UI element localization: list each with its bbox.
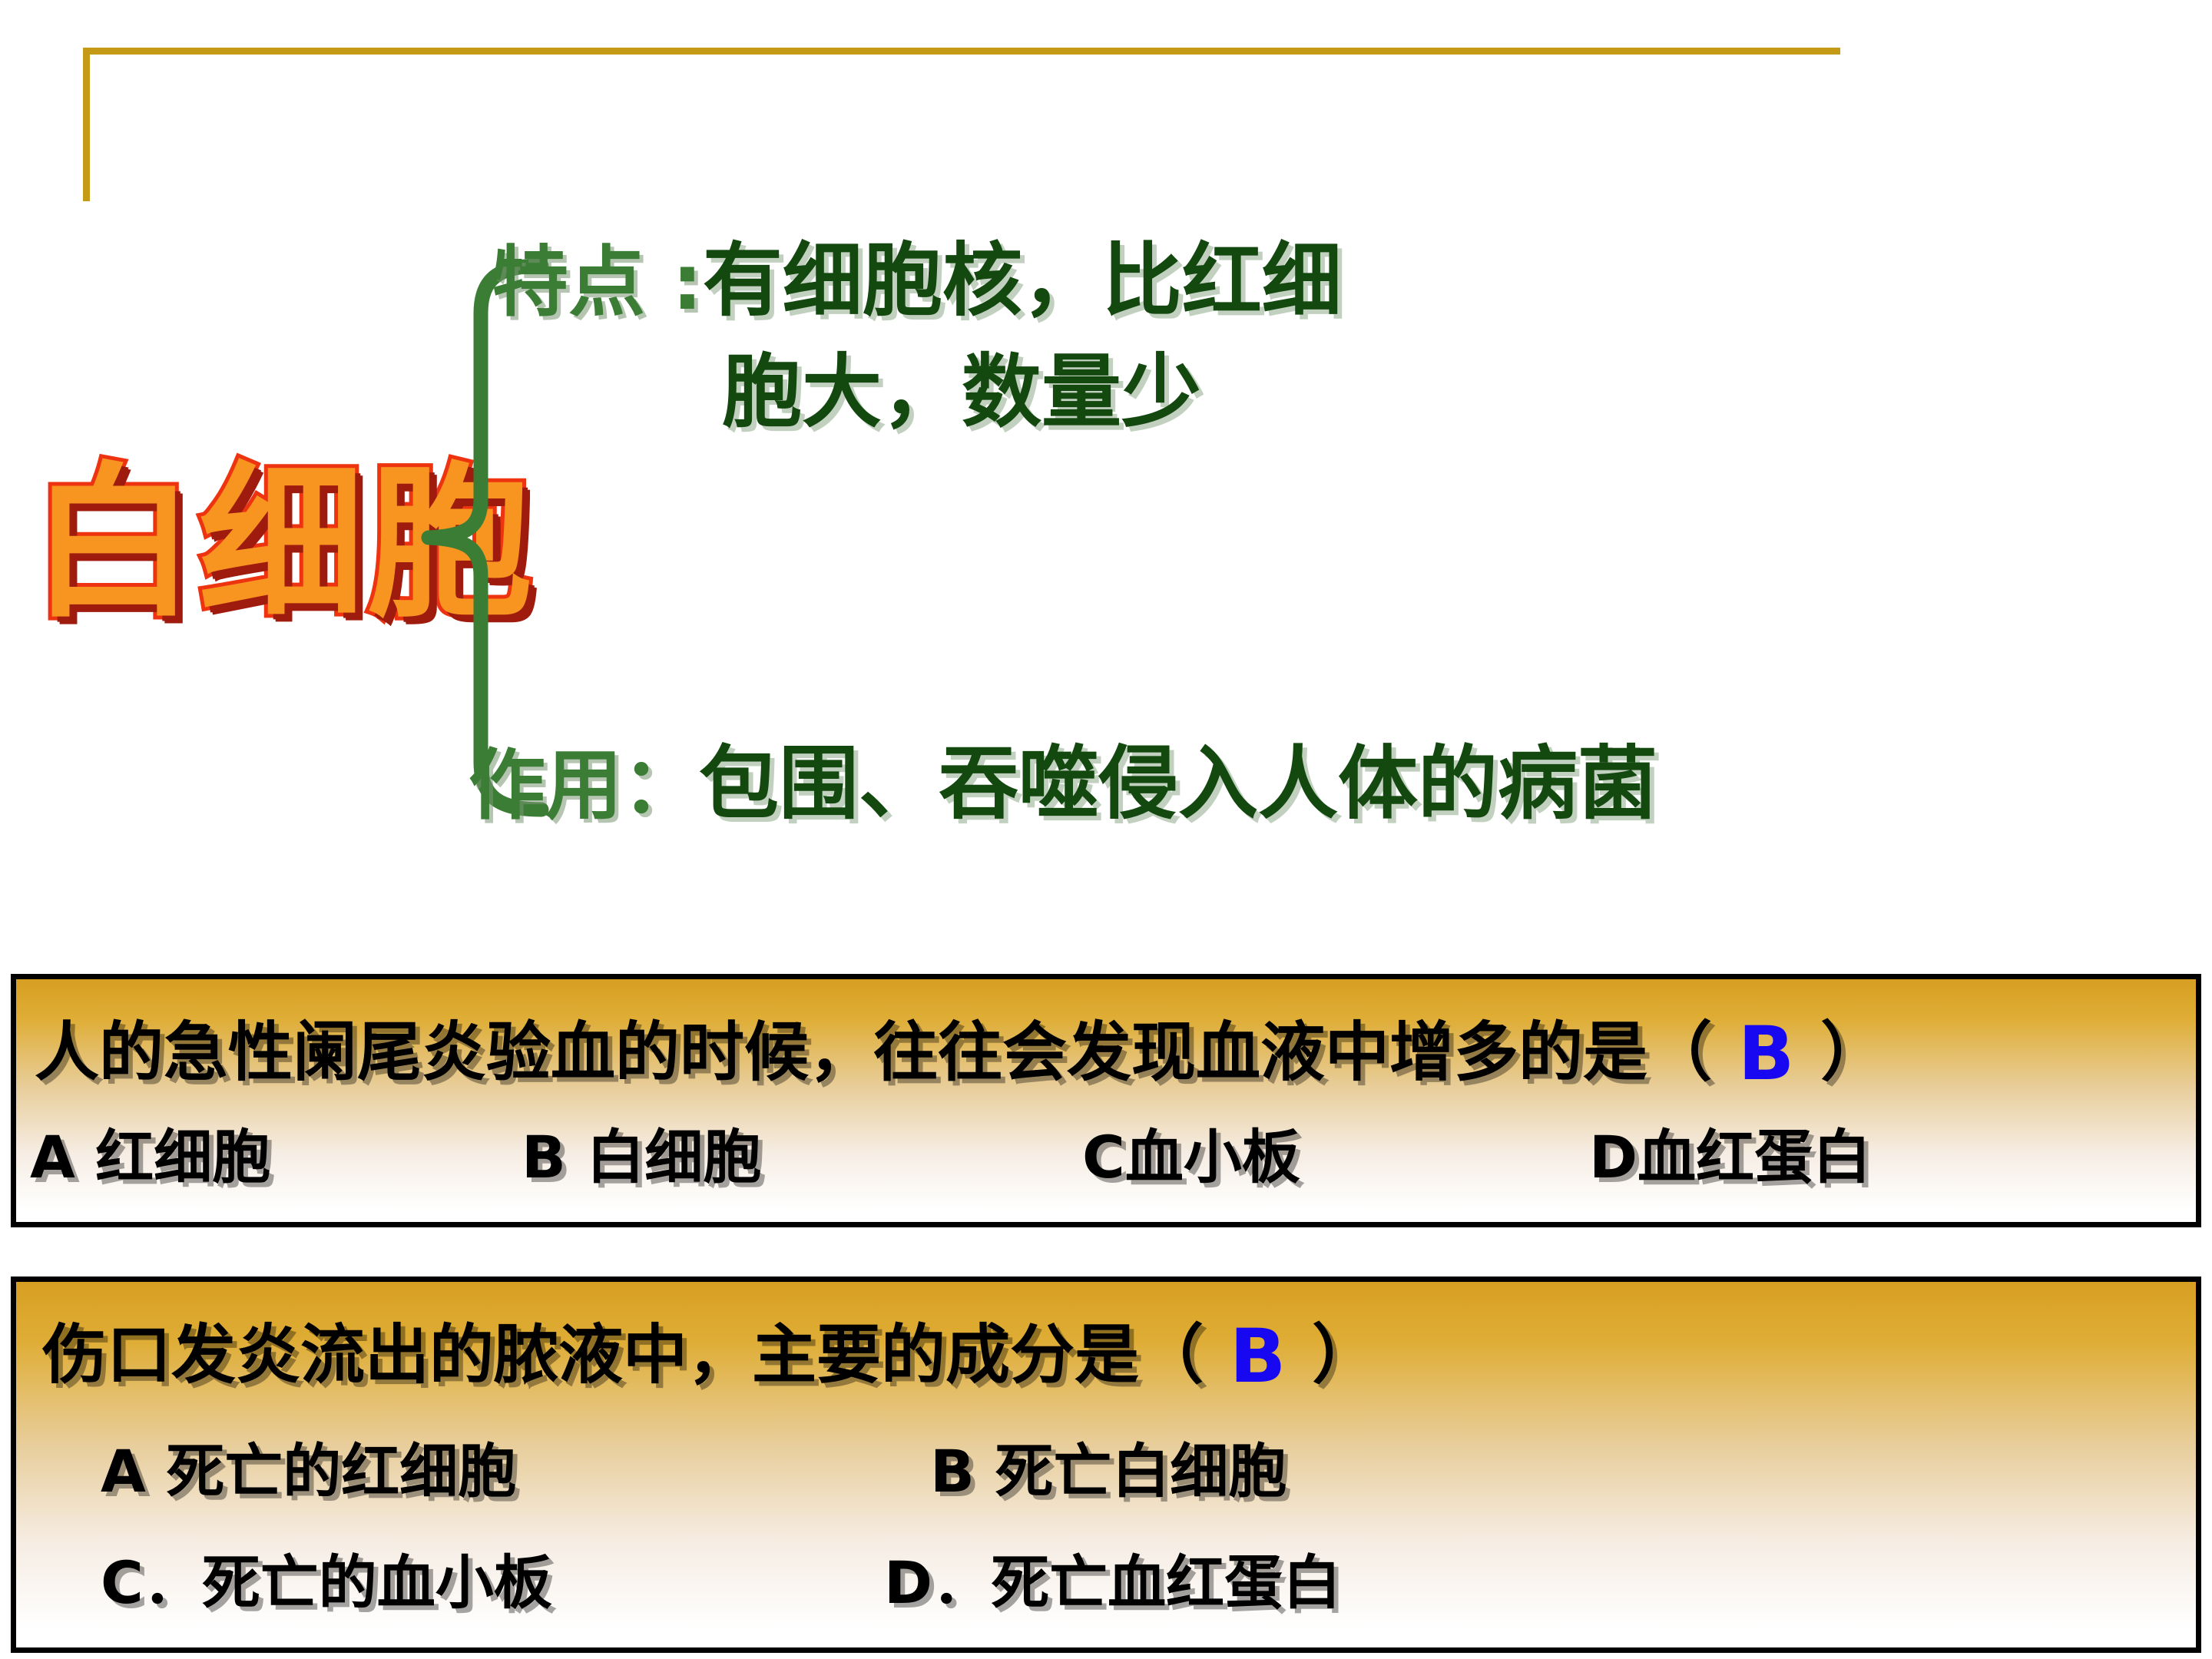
question-1-options: A 红细胞 B 白细胞 C血小板 D血红蛋白 — [30, 1110, 1871, 1194]
branch-role-row: 作用： 包围、吞噬侵入人体的病菌 — [469, 718, 1657, 834]
question-1-close-paren: ） — [1820, 1001, 1885, 1094]
question-2-option-b[interactable]: B 死亡白细胞 — [930, 1424, 1286, 1508]
question-1-stem: 人的急性阑尾炎验血的时候，往往会发现血液中增多的是（B） — [35, 1001, 1885, 1097]
question-box-2: 伤口发炎流出的脓液中，主要的成分是（B） A 死亡的红细胞 B 死亡白细胞 C．… — [11, 1277, 2201, 1653]
corner-bracket-decoration — [83, 48, 1840, 201]
question-box-1: 人的急性阑尾炎验血的时候，往往会发现血液中增多的是（B） A 红细胞 B 白细胞… — [11, 974, 2201, 1227]
question-2-close-paren: ） — [1312, 1303, 1376, 1396]
slide-canvas: 白细胞 特点 : 有细胞核，比红细 胞大，数量少 作用： 包围、吞噬侵入人体的病… — [0, 0, 2212, 1659]
question-1-option-c[interactable]: C血小板 — [1082, 1110, 1589, 1194]
branch-feature-text-line2: 胞大，数量少 — [722, 326, 1201, 442]
question-2-stem: 伤口发炎流出的脓液中，主要的成分是（B） — [42, 1303, 1376, 1399]
branch-role-label: 作用： — [469, 723, 699, 834]
branch-feature-label: 特点 : — [492, 220, 703, 331]
question-2-stem-text: 伤口发炎流出的脓液中，主要的成分是（ — [42, 1317, 1204, 1392]
question-1-option-b[interactable]: B 白细胞 — [522, 1110, 1082, 1194]
question-2-option-a[interactable]: A 死亡的红细胞 — [101, 1424, 930, 1508]
question-2-option-d[interactable]: D．死亡血红蛋白 — [884, 1535, 1341, 1620]
question-1-option-d[interactable]: D血红蛋白 — [1589, 1110, 1871, 1194]
question-2-options-row-1: A 死亡的红细胞 B 死亡白细胞 — [101, 1424, 1286, 1508]
question-2-options-row-2: C．死亡的血小板 D．死亡血红蛋白 — [101, 1535, 1341, 1620]
question-2-answer[interactable]: B — [1204, 1313, 1312, 1399]
branch-feature-row: 特点 : 有细胞核，比红细 — [492, 215, 1342, 331]
question-1-option-a[interactable]: A 红细胞 — [30, 1110, 522, 1194]
question-1-answer[interactable]: B — [1712, 1011, 1820, 1097]
branch-feature-text-line1: 有细胞核，比红细 — [703, 215, 1342, 331]
question-1-stem-text: 人的急性阑尾炎验血的时候，往往会发现血液中增多的是（ — [35, 1015, 1712, 1090]
question-2-option-c[interactable]: C．死亡的血小板 — [101, 1535, 884, 1620]
branch-role-text: 包围、吞噬侵入人体的病菌 — [699, 718, 1657, 834]
